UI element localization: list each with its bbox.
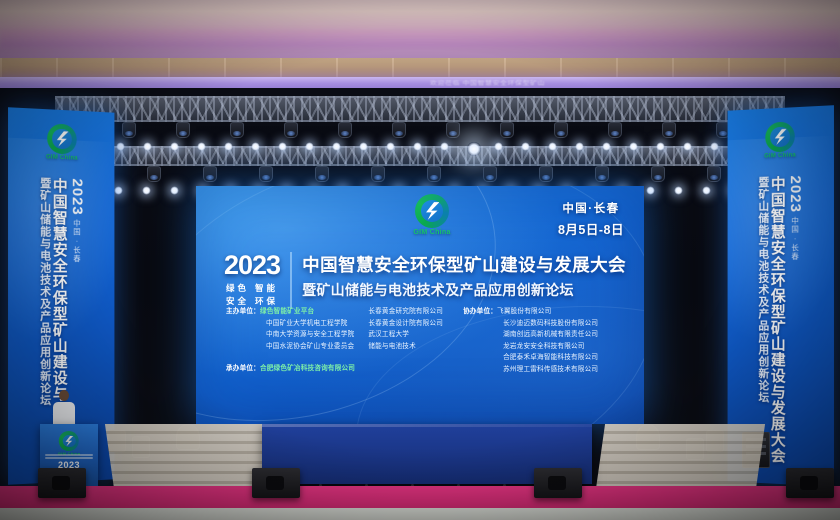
moving-head-lower-13 bbox=[427, 166, 441, 182]
coorg-item: 龙岩龙安安全科技有限公司 bbox=[503, 341, 598, 353]
stage-lamp-upper-22 bbox=[656, 142, 665, 151]
moving-head-lower-3 bbox=[147, 166, 161, 182]
conference-title-main: 中国智慧安全环保型矿山建设与发展大会 bbox=[302, 255, 626, 275]
sponsor-line: 承办单位：合肥绿色矿冶科技咨询有限公司 bbox=[226, 363, 443, 375]
coorg-first-line: 协办单位：飞翼股份有限公司 bbox=[463, 306, 598, 318]
host-item: 武汉工程大学 bbox=[368, 329, 443, 341]
stage-lamp-lower-23 bbox=[702, 186, 711, 195]
gim-logo-banner-left: GIM China bbox=[8, 121, 114, 163]
stage-lamp-upper-14 bbox=[440, 142, 449, 151]
front-row-foreground bbox=[0, 508, 840, 520]
moving-head-lower-19 bbox=[595, 166, 609, 182]
moving-head-lower-9 bbox=[315, 166, 329, 182]
truss-upper bbox=[55, 96, 785, 122]
moving-head-upper-20 bbox=[608, 122, 622, 138]
host-item: 长春黄金设计院有限公司 bbox=[368, 318, 443, 330]
coorg-item: 苏州理工雷科传感技术有限公司 bbox=[503, 364, 598, 376]
event-slogan: 绿色 智能 安全 环保 bbox=[224, 283, 280, 309]
stage-monitor-far-right bbox=[786, 468, 834, 498]
conference-title-sub: 暨矿山储能与电池技术及产品应用创新论坛 bbox=[302, 280, 626, 300]
gim-mark-icon bbox=[415, 194, 449, 228]
coorg-rest: 长沙迪迈数码科技股份有限公司 湖南创远高新机械有限责任公司 龙岩龙安安全科技有限… bbox=[463, 318, 598, 376]
stage-lamp-upper-18 bbox=[548, 142, 557, 151]
speaker-at-podium bbox=[52, 390, 76, 428]
moving-head-upper-12 bbox=[392, 122, 406, 138]
gim-logo-banner-right: GIM China bbox=[728, 119, 834, 161]
stage-monitor-center bbox=[252, 468, 300, 498]
year-slogan-block: 2023 绿色 智能 安全 环保 bbox=[224, 252, 292, 309]
stage-lamp-upper-19 bbox=[575, 142, 584, 151]
coorg-item: 飞翼股份有限公司 bbox=[497, 308, 551, 315]
moving-head-lower-17 bbox=[539, 166, 553, 182]
host-item: 中国矿业大学机电工程学院 bbox=[266, 318, 354, 330]
stage-lamp-upper-16 bbox=[494, 142, 503, 151]
moving-head-upper-14 bbox=[446, 122, 460, 138]
stage-monitor-right bbox=[534, 468, 582, 498]
host-item: 储能与电池技术 bbox=[368, 341, 443, 353]
stage-lamp-lower-2 bbox=[114, 186, 123, 195]
sponsor-value: 合肥绿色矿冶科技咨询有限公司 bbox=[260, 365, 355, 372]
stage-lamp-upper-7 bbox=[251, 142, 260, 151]
title-block: 中国智慧安全环保型矿山建设与发展大会 暨矿山储能与电池技术及产品应用创新论坛 bbox=[302, 252, 626, 300]
host-item: 长春黄金研究院有限公司 bbox=[368, 306, 443, 318]
gim-mark-icon bbox=[47, 123, 77, 154]
stage-lamp-upper-3 bbox=[143, 142, 152, 151]
event-city: 中国·长春 bbox=[558, 200, 624, 216]
main-led-screen: GIM China 中国·长春 8月5日-8日 2023 绿色 智能 安全 环保… bbox=[196, 186, 644, 424]
moving-head-lower-15 bbox=[483, 166, 497, 182]
screen-title-row: 2023 绿色 智能 安全 环保 中国智慧安全环保型矿山建设与发展大会 暨矿山储… bbox=[224, 252, 630, 309]
host-item: 绿色智能矿业平台 bbox=[260, 308, 314, 315]
banner-left-year: 2023 bbox=[69, 178, 86, 216]
event-date-block: 中国·长春 8月5日-8日 bbox=[558, 200, 624, 238]
moving-head-upper-10 bbox=[338, 122, 352, 138]
coorg-item: 湖南创远高新机械有限责任公司 bbox=[503, 329, 598, 341]
moving-head-upper-16 bbox=[500, 122, 514, 138]
stage-lamp-upper-4 bbox=[170, 142, 179, 151]
stage-lamp-upper-13 bbox=[413, 142, 422, 151]
organizer-section: 主办单位：绿色智能矿业平台 中国矿业大学机电工程学院 中南大学资源与安全工程学院… bbox=[226, 306, 630, 375]
slogan-line-1: 绿色 智能 bbox=[224, 283, 280, 296]
hosts-group: 主办单位：绿色智能矿业平台 中国矿业大学机电工程学院 中南大学资源与安全工程学院… bbox=[226, 306, 443, 375]
moving-head-lower-11 bbox=[371, 166, 385, 182]
hosts-rest-1: 中国矿业大学机电工程学院 中南大学资源与安全工程学院 中国水泥协会矿山专业委员会 bbox=[226, 318, 354, 353]
hosts-label: 主办单位： bbox=[226, 308, 260, 315]
host-item: 中国水泥协会矿山专业委员会 bbox=[266, 341, 354, 353]
moving-head-upper-4 bbox=[176, 122, 190, 138]
moving-head-lower-23 bbox=[707, 166, 721, 182]
stage-lamp-upper-21 bbox=[629, 142, 638, 151]
moving-head-upper-18 bbox=[554, 122, 568, 138]
banner-left-city: 中国·长春 bbox=[72, 220, 83, 264]
speaker-head bbox=[59, 390, 69, 401]
ceiling-light-band bbox=[0, 30, 840, 48]
stage-lamp-upper-9 bbox=[305, 142, 314, 151]
hosts-grid: 主办单位：绿色智能矿业平台 中国矿业大学机电工程学院 中南大学资源与安全工程学院… bbox=[226, 306, 443, 352]
stage-lamp-upper-8 bbox=[278, 142, 287, 151]
hosts-column-2: 长春黄金研究院有限公司 长春黄金设计院有限公司 武汉工程大学 储能与电池技术 bbox=[368, 306, 443, 352]
stage-lamp-lower-3 bbox=[142, 186, 151, 195]
coorg-item: 长沙迪迈数码科技股份有限公司 bbox=[503, 318, 598, 330]
stage-lamp-upper-12 bbox=[386, 142, 395, 151]
coorg-label: 协办单位： bbox=[463, 308, 497, 315]
stage-lamp-lower-4 bbox=[170, 186, 179, 195]
stage-lamp-upper-2 bbox=[116, 142, 125, 151]
moving-head-upper-2 bbox=[122, 122, 136, 138]
sponsor-label: 承办单位： bbox=[226, 365, 260, 372]
event-year: 2023 bbox=[224, 252, 280, 279]
host-item: 中南大学资源与安全工程学院 bbox=[266, 329, 354, 341]
moving-head-upper-22 bbox=[662, 122, 676, 138]
coorganizer-group: 协办单位：飞翼股份有限公司 长沙迪迈数码科技股份有限公司 湖南创远高新机械有限责… bbox=[463, 306, 598, 375]
stage-monitor-left bbox=[38, 468, 86, 498]
hosts-column-1: 主办单位：绿色智能矿业平台 中国矿业大学机电工程学院 中南大学资源与安全工程学院… bbox=[226, 306, 354, 352]
stage-lamp-lower-21 bbox=[646, 186, 655, 195]
moving-head-lower-21 bbox=[651, 166, 665, 182]
stage-lamp-upper-6 bbox=[224, 142, 233, 151]
coorg-item: 合肥泰禾卓海智能科技有限公司 bbox=[503, 352, 598, 364]
moving-head-lower-5 bbox=[203, 166, 217, 182]
hosts-first-line: 主办单位：绿色智能矿业平台 bbox=[226, 306, 354, 318]
gim-mark-icon bbox=[765, 121, 795, 152]
stage-apron bbox=[0, 424, 840, 520]
event-dates: 8月5日-8日 bbox=[558, 219, 624, 238]
stage-lamp-upper-11 bbox=[359, 142, 368, 151]
stage-lamp-upper-17 bbox=[521, 142, 530, 151]
moving-head-lower-7 bbox=[259, 166, 273, 182]
stage-lamp-upper-20 bbox=[602, 142, 611, 151]
moving-head-upper-6 bbox=[230, 122, 244, 138]
stage-lamp-lower-22 bbox=[674, 186, 683, 195]
stage-lamp-upper-10 bbox=[332, 142, 341, 151]
stage-lamp-upper-24 bbox=[710, 142, 719, 151]
banner-right-year: 2023 bbox=[787, 175, 804, 213]
moving-head-upper-8 bbox=[284, 122, 298, 138]
conference-stage-photo: 欢迎莅临 中国智慧安全环保型矿山 GIM China 2023 中国·长春 中国… bbox=[0, 0, 840, 520]
banner-right-city: 中国·长春 bbox=[790, 217, 801, 261]
stage-lamp-upper-15 bbox=[467, 142, 481, 156]
stage-lamp-upper-5 bbox=[197, 142, 206, 151]
stage-lamp-upper-23 bbox=[683, 142, 692, 151]
